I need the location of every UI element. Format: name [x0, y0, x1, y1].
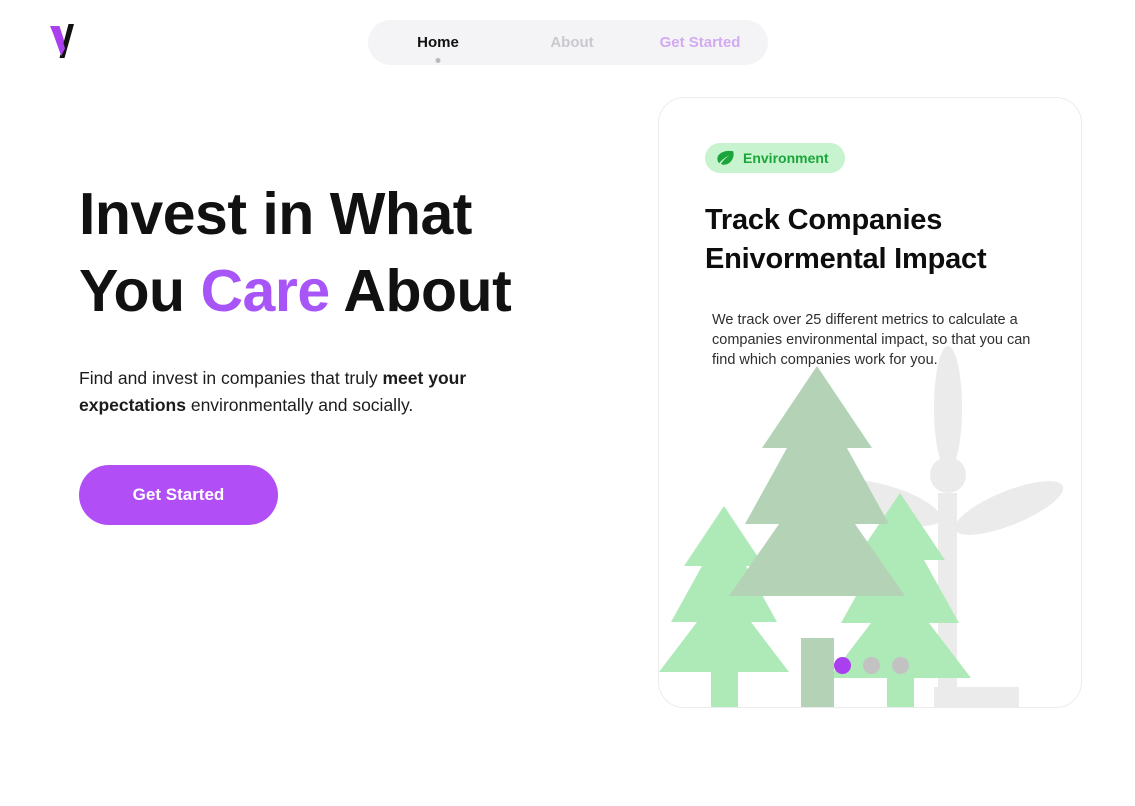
hero-title: Invest in What You Care About [79, 176, 599, 330]
carousel-dot-3[interactable] [892, 657, 909, 674]
get-started-button[interactable]: Get Started [79, 465, 278, 525]
nav-item-home[interactable]: Home [378, 34, 498, 51]
hero-title-line2-post: About [330, 258, 512, 324]
pine-tree-left [659, 506, 789, 708]
nav-item-home-label: Home [417, 34, 459, 51]
card-title: Track Companies Enivormental Impact [705, 201, 1045, 279]
carousel-pagination [834, 657, 909, 674]
brand-logo[interactable] [48, 22, 92, 62]
illustration-svg [659, 348, 1082, 708]
carousel-dot-2[interactable] [863, 657, 880, 674]
feature-card: Environment Track Companies Enivormental… [658, 97, 1082, 708]
leaf-icon [716, 150, 735, 166]
card-title-line1: Track Companies [705, 204, 942, 236]
hero-title-line1: Invest in What [79, 181, 472, 247]
hero-section: Invest in What You Care About Find and i… [79, 176, 599, 525]
card-title-line2: Enivormental Impact [705, 243, 986, 275]
status-badge: Environment [705, 143, 845, 173]
hero-title-line2-pre: You [79, 258, 200, 324]
status-badge-label: Environment [743, 150, 829, 166]
trees-and-wind-turbine-illustration [659, 348, 1082, 708]
landing-page: Home About Get Started Invest in What Yo… [0, 0, 1135, 806]
nav-active-dot-icon [436, 58, 441, 63]
nav-item-get-started-label: Get Started [660, 34, 741, 51]
site-header: Home About Get Started [0, 0, 1135, 84]
carousel-dot-1[interactable] [834, 657, 851, 674]
hero-subtitle-pre: Find and invest in companies that truly [79, 368, 383, 388]
main-nav: Home About Get Started [368, 20, 768, 65]
hero-title-accent: Care [200, 258, 329, 324]
nav-item-about[interactable]: About [512, 34, 632, 51]
nav-item-get-started[interactable]: Get Started [640, 34, 760, 51]
get-started-button-label: Get Started [133, 485, 225, 505]
hero-subtitle-post: environmentally and socially. [186, 395, 413, 415]
v-slash-logo-icon [48, 22, 92, 62]
hero-subtitle: Find and invest in companies that truly … [79, 365, 524, 419]
nav-item-about-label: About [550, 34, 593, 51]
